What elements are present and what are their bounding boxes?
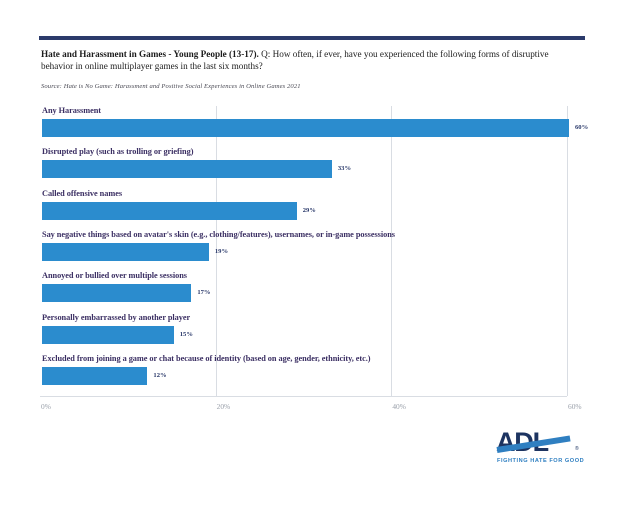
bar-category-label: Annoyed or bullied over multiple session…: [42, 271, 187, 280]
bar-value-label: 19%: [215, 248, 228, 255]
adl-tagline: FIGHTING HATE FOR GOOD: [497, 458, 584, 464]
source-note: Source: Hate is No Game: Harassment and …: [41, 83, 441, 90]
bar[interactable]: [42, 367, 147, 385]
bar-category-label: Disrupted play (such as trolling or grie…: [42, 147, 193, 156]
x-tick-label: 20%: [217, 402, 231, 411]
page-title: Hate and Harassment in Games - Young Peo…: [41, 48, 571, 73]
bar-category-label: Any Harassment: [42, 106, 101, 115]
axis-baseline: [40, 396, 567, 397]
bar[interactable]: [42, 119, 569, 137]
page-title-lead: Hate and Harassment in Games - Young Peo…: [41, 49, 259, 59]
gridline-40%: [391, 106, 392, 396]
adl-logo-mark: ADL ®: [496, 430, 588, 458]
bar[interactable]: [42, 326, 174, 344]
registered-mark-icon: ®: [575, 446, 579, 452]
bar[interactable]: [42, 202, 297, 220]
x-tick-label: 60%: [568, 402, 582, 411]
x-tick-label: 40%: [392, 402, 406, 411]
bar-value-label: 17%: [197, 289, 210, 296]
header-rule: [39, 36, 585, 40]
bar-value-label: 15%: [180, 331, 193, 338]
bar-value-label: 60%: [575, 124, 588, 131]
gridline-60%: [567, 106, 568, 396]
bar-category-label: Called offensive names: [42, 189, 122, 198]
bar-category-label: Personally embarrassed by another player: [42, 313, 190, 322]
bar-value-label: 33%: [338, 165, 351, 172]
bar[interactable]: [42, 243, 209, 261]
adl-logo: ADL ® FIGHTING HATE FOR GOOD: [496, 430, 588, 474]
bar[interactable]: [42, 160, 332, 178]
bar-category-label: Excluded from joining a game or chat bec…: [42, 354, 371, 363]
bar-value-label: 12%: [153, 372, 166, 379]
bar-category-label: Say negative things based on avatar's sk…: [42, 230, 395, 239]
bar-chart: 0%20%40%60% Any Harassment60%Disrupted p…: [40, 106, 567, 396]
slide-canvas: Hate and Harassment in Games - Young Peo…: [0, 0, 620, 508]
x-tick-label: 0%: [41, 402, 51, 411]
bar-value-label: 29%: [303, 207, 316, 214]
bar[interactable]: [42, 284, 191, 302]
